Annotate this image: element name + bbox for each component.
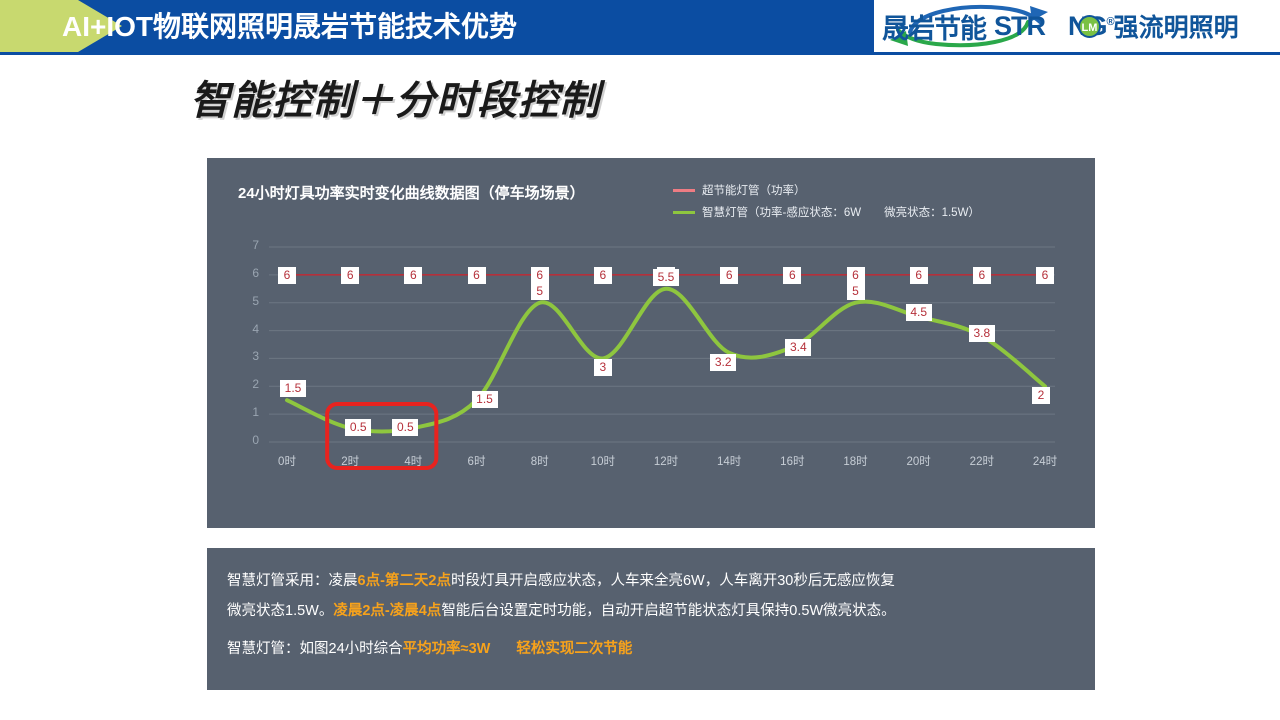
- x-axis-tick: 12时: [638, 453, 694, 469]
- logo-cn-suffix: 强流明照明: [1114, 8, 1239, 44]
- data-label: 1.5: [472, 391, 498, 408]
- data-label: 3.8: [969, 325, 995, 342]
- data-label: 3.4: [785, 339, 811, 356]
- x-axis-tick: 2时: [322, 453, 378, 469]
- data-label: 3.2: [710, 354, 736, 371]
- data-label: 0.5: [392, 419, 418, 436]
- x-axis-tick: 24时: [1017, 453, 1073, 469]
- x-axis-tick: 8时: [512, 453, 568, 469]
- page-header: AI+IOT物联网照明晟岩节能技术优势 晟岩节能 STRNG® LM 强流明照明: [0, 0, 1280, 52]
- note-line-3-a: 智慧灯管：如图24小时综合: [227, 641, 403, 657]
- x-axis-tick: 10时: [575, 453, 631, 469]
- data-label: 5: [847, 283, 865, 300]
- logo-en-head: STR: [994, 11, 1045, 41]
- note-line-1-a: 智慧灯管采用：凌晨: [227, 573, 358, 589]
- note-line-3: 智慧灯管：如图24小时综合平均功率≈3W轻松实现二次节能: [227, 634, 1075, 664]
- x-axis-tick: 22时: [954, 453, 1010, 469]
- y-axis-tick: 0: [239, 433, 259, 447]
- data-label: 6: [910, 267, 928, 284]
- header-underline: [0, 52, 1280, 55]
- x-axis-tick: 6时: [449, 453, 505, 469]
- data-label: 2: [1032, 387, 1050, 404]
- slide-subtitle: 智能控制＋分时段控制: [190, 68, 600, 126]
- chart-series: [287, 275, 1045, 432]
- y-axis-tick: 5: [239, 294, 259, 308]
- data-label: 6: [783, 267, 801, 284]
- data-label: 6: [341, 267, 359, 284]
- data-label: 5: [531, 283, 549, 300]
- note-box: 智慧灯管采用：凌晨6点-第二天2点时段灯具开启感应状态，人车来全亮6W，人车离开…: [207, 548, 1095, 690]
- note-line-2-a: 微亮状态1.5W。: [227, 603, 333, 619]
- note-line-1-highlight: 6点-第二天2点: [358, 573, 451, 589]
- note-line-1-b: 时段灯具开启感应状态，人车来全亮6W，人车离开30秒后无感应恢复: [451, 573, 895, 589]
- chart-panel: 24小时灯具功率实时变化曲线数据图（停车场场景） 超节能灯管（功率） 智慧灯管（…: [207, 158, 1095, 528]
- data-label: 3: [594, 359, 612, 376]
- data-label: 6: [720, 267, 738, 284]
- data-label: 6: [278, 267, 296, 284]
- data-label: 6: [404, 267, 422, 284]
- x-axis-tick: 0时: [259, 453, 315, 469]
- data-label: 6: [1036, 267, 1054, 284]
- x-axis-tick: 14时: [701, 453, 757, 469]
- y-axis-tick: 3: [239, 349, 259, 363]
- note-line-2-highlight: 凌晨2点-凌晨4点: [333, 603, 441, 619]
- note-line-3-highlight-2: 轻松实现二次节能: [516, 641, 632, 657]
- x-axis-tick: 16时: [764, 453, 820, 469]
- data-label: 6: [847, 267, 865, 284]
- logo-en-brand: STRNG® LM: [994, 11, 1114, 42]
- data-label: 0.5: [345, 419, 371, 436]
- note-line-2-b: 智能后台设置定时功能，自动开启超节能状态灯具保持0.5W微亮状态。: [441, 603, 895, 619]
- page-title: AI+IOT物联网照明晟岩节能技术优势: [62, 8, 852, 48]
- y-axis-tick: 2: [239, 377, 259, 391]
- logo-lm-badge: LM: [1078, 15, 1101, 38]
- y-axis-tick: 1: [239, 405, 259, 419]
- logo-registered-mark: ®: [1107, 16, 1114, 28]
- logo-cn-brand: 晟岩节能: [882, 7, 986, 46]
- brand-logo: 晟岩节能 STRNG® LM 强流明照明: [874, 0, 1280, 52]
- y-axis-tick: 7: [239, 238, 259, 252]
- note-line-3-highlight-1: 平均功率≈3W: [403, 641, 491, 657]
- data-label: 4.5: [906, 304, 932, 321]
- data-label: 6: [468, 267, 486, 284]
- data-label: 6: [594, 267, 612, 284]
- note-line-2: 微亮状态1.5W。凌晨2点-凌晨4点智能后台设置定时功能，自动开启超节能状态灯具…: [227, 596, 1075, 626]
- x-axis-tick: 4时: [385, 453, 441, 469]
- y-axis-tick: 6: [239, 266, 259, 280]
- data-label: 6: [531, 267, 549, 284]
- data-label: 1.5: [280, 380, 306, 397]
- y-axis-tick: 4: [239, 322, 259, 336]
- x-axis-tick: 18时: [828, 453, 884, 469]
- x-axis-tick: 20时: [891, 453, 947, 469]
- data-label: 5.5: [653, 269, 679, 286]
- chart-plot-area: [207, 158, 1095, 528]
- data-label: 6: [973, 267, 991, 284]
- note-line-1: 智慧灯管采用：凌晨6点-第二天2点时段灯具开启感应状态，人车来全亮6W，人车离开…: [227, 566, 1075, 596]
